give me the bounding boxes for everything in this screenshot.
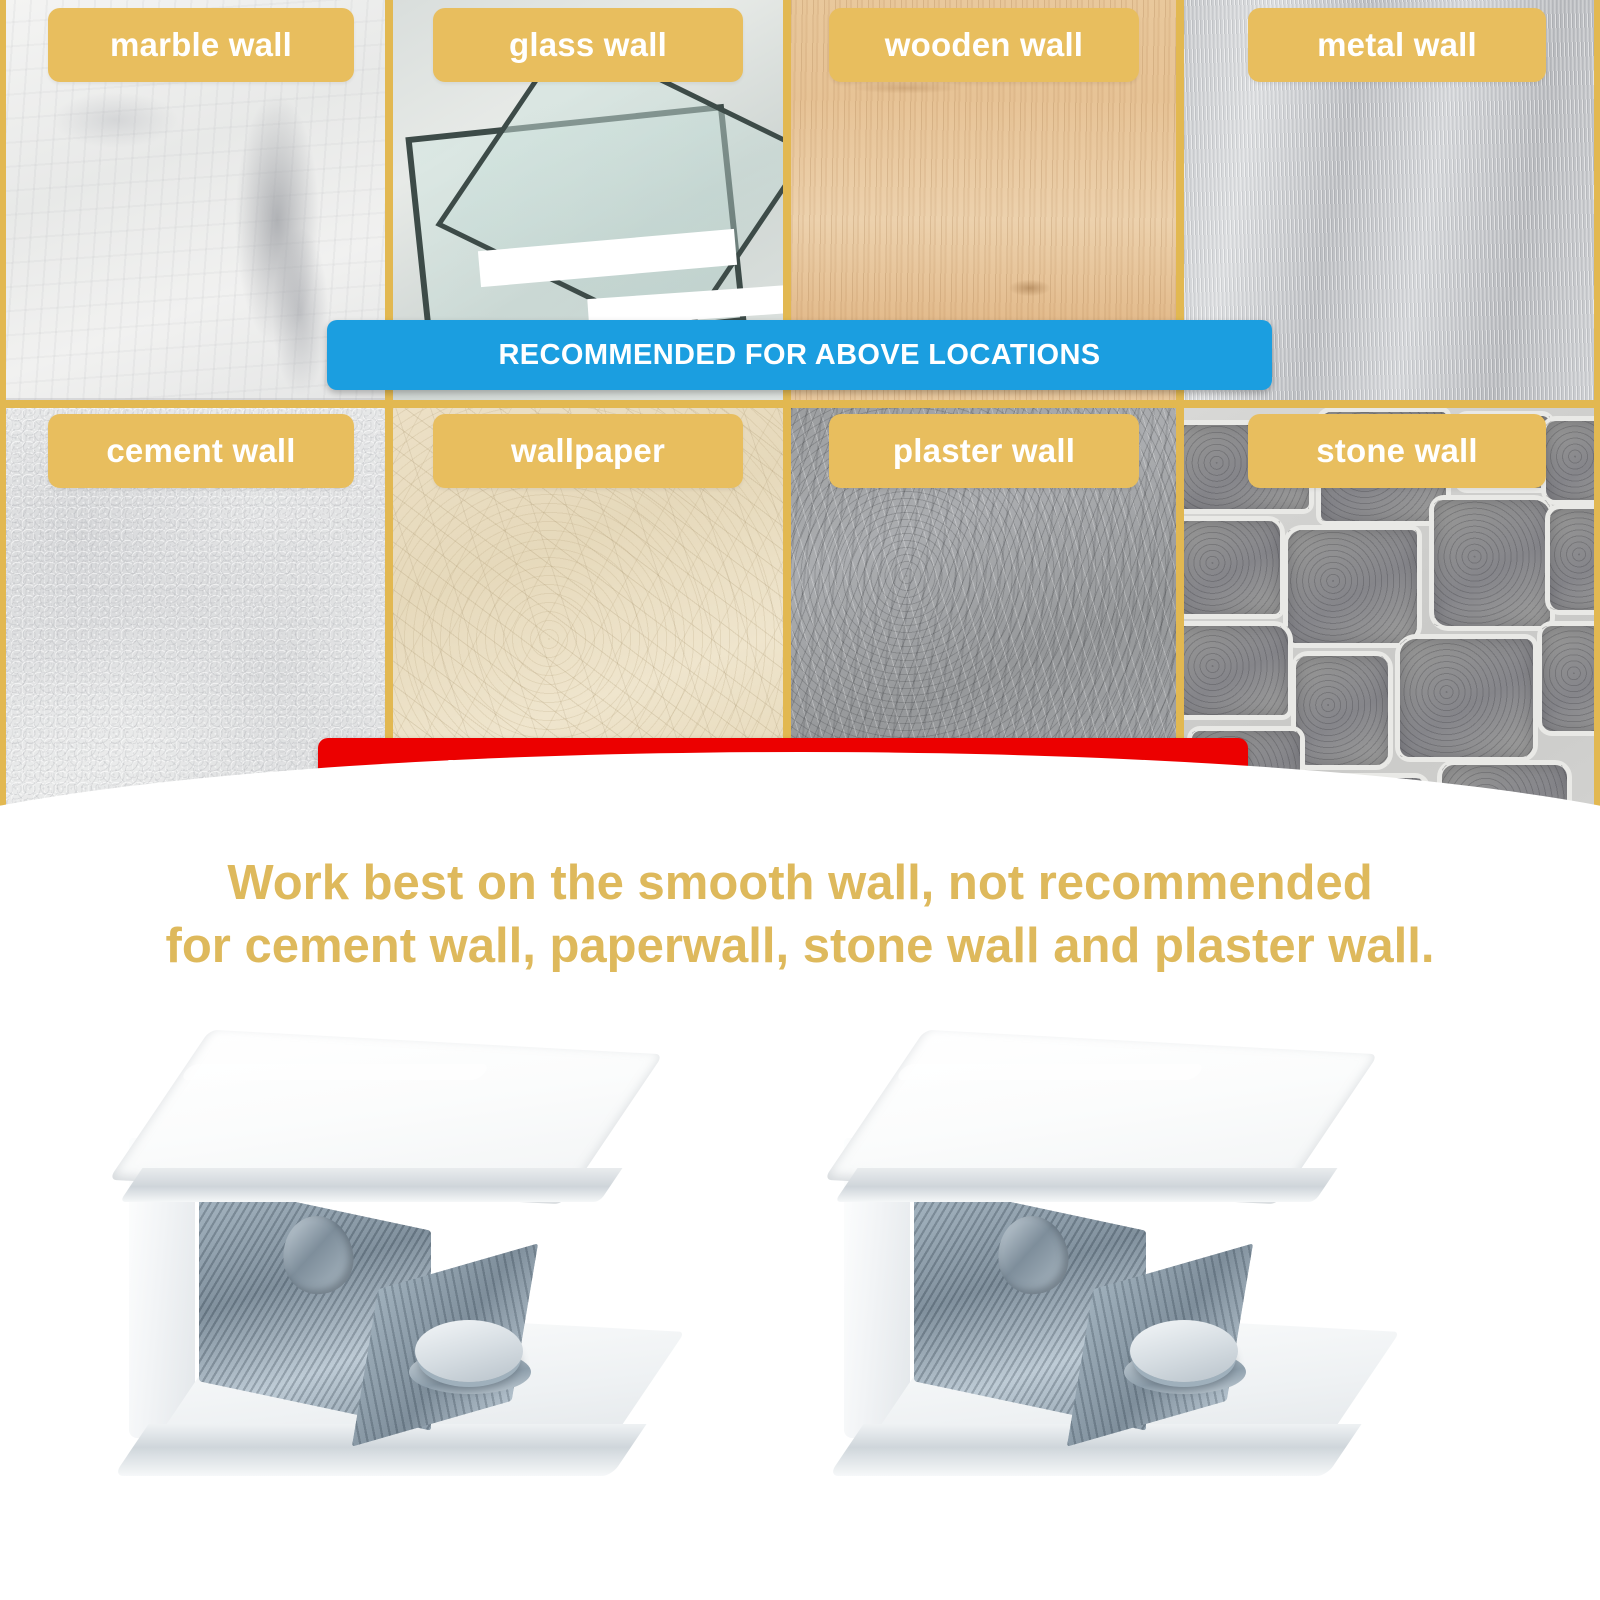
bracket-rubber-pad [1130, 1320, 1238, 1382]
wall-label-marble: marble wall [48, 8, 354, 82]
grid-divider-horizontal [0, 400, 1600, 408]
bracket-top-edge [835, 1168, 1338, 1202]
wall-label-metal-text: metal wall [1317, 26, 1477, 64]
wall-label-glass: glass wall [433, 8, 743, 82]
product-image-bracket-left [115, 1020, 735, 1590]
wall-label-glass-text: glass wall [509, 26, 667, 64]
wall-label-stone: stone wall [1248, 414, 1546, 488]
wall-label-metal: metal wall [1248, 8, 1546, 82]
wall-label-cement-text: cement wall [106, 432, 295, 470]
wall-label-wooden-text: wooden wall [885, 26, 1083, 64]
wall-type-grid: marble wall glass wall wooden wall metal… [0, 0, 1600, 828]
grid-edge-right [1594, 0, 1600, 828]
wall-label-plaster-text: plaster wall [893, 432, 1075, 470]
wall-label-wooden: wooden wall [829, 8, 1139, 82]
product-photo-row [0, 1010, 1600, 1600]
banner-recommended: RECOMMENDED FOR ABOVE LOCATIONS [327, 320, 1272, 390]
banner-recommended-text: RECOMMENDED FOR ABOVE LOCATIONS [498, 339, 1100, 372]
bracket-rubber-pad [415, 1320, 523, 1382]
headline-line-2: for cement wall, paperwall, stone wall a… [0, 915, 1600, 978]
page-headline: Work best on the smooth wall, not recomm… [0, 852, 1600, 977]
product-image-bracket-right [830, 1020, 1450, 1590]
wall-label-wallpaper: wallpaper [433, 414, 743, 488]
grid-divider-vertical-1 [385, 0, 393, 828]
grid-divider-vertical-3 [1176, 0, 1184, 828]
bracket-top-edge [120, 1168, 623, 1202]
wall-label-cement: cement wall [48, 414, 354, 488]
wall-label-stone-text: stone wall [1316, 432, 1478, 470]
grid-divider-vertical-2 [783, 0, 791, 828]
wall-label-plaster: plaster wall [829, 414, 1139, 488]
headline-line-1: Work best on the smooth wall, not recomm… [0, 852, 1600, 915]
grid-edge-left [0, 0, 6, 828]
wall-label-marble-text: marble wall [110, 26, 292, 64]
wall-label-wallpaper-text: wallpaper [511, 432, 665, 470]
